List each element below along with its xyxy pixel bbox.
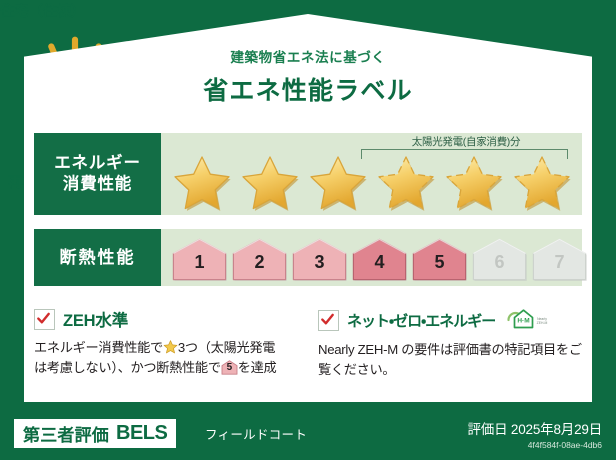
- star-4: [373, 153, 439, 211]
- solar-generation-note: 太陽光発電(自家消費)分: [336, 134, 596, 149]
- inline-badge-value: 5: [221, 363, 238, 373]
- evaluation-date: 評価日 2025年8月29日: [467, 418, 602, 438]
- criteria-net-zero-body: Nearly ZEH-M の要件は評価書の特記項目をご覧ください。: [318, 340, 586, 381]
- insulation-level-1: 1: [171, 237, 228, 282]
- zeh-body-part2: は考慮しない）、かつ断熱性能で: [34, 360, 221, 375]
- insulation-label: 断熱性能: [60, 247, 136, 269]
- zeh-body-part1: エネルギー消費性能で: [34, 340, 163, 355]
- star-3: [305, 153, 371, 211]
- star-2: [237, 153, 303, 211]
- insulation-level-value: 2: [231, 253, 288, 271]
- insulation-performance-row: 断熱性能 1234567: [34, 229, 582, 286]
- zeh-m-logo: H·M Nearly ZEH-M: [505, 307, 549, 333]
- criteria-zeh-block: ZEH水準 エネルギー消費性能で 3つ（太陽光発電 は考慮しない）、かつ断熱性能…: [34, 307, 306, 379]
- insulation-level-value: 1: [171, 253, 228, 271]
- insulation-level-value: 4: [351, 253, 408, 271]
- criteria-net-zero-block: ネット・ゼロ・エネルギー H·M Nearly ZEH-M Nearly ZEH…: [318, 307, 586, 381]
- bels-label: BELS: [116, 422, 167, 445]
- third-party-label: 第三者評価: [23, 421, 109, 446]
- criteria-zeh-title: ZEH水準: [63, 307, 128, 331]
- zeh-body-part3: を達成: [238, 360, 277, 375]
- insulation-level-5: 5: [411, 237, 468, 282]
- insulation-level-list: 1234567: [171, 233, 588, 282]
- star-6: [509, 153, 575, 211]
- insulation-level-value: 7: [531, 253, 588, 271]
- insulation-level-value: 3: [291, 253, 348, 271]
- star-5: [441, 153, 507, 211]
- insulation-level-4: 4: [351, 237, 408, 282]
- insulation-level-6: 6: [471, 237, 528, 282]
- svg-text:ZEH-M: ZEH-M: [537, 321, 548, 325]
- energy-performance-row: エネルギー 消費性能 太陽光発電(自家消費)分: [34, 133, 582, 215]
- criteria-net-zero-title: ネット・ゼロ・エネルギー: [347, 310, 495, 331]
- criteria-zeh-body: エネルギー消費性能で 3つ（太陽光発電 は考慮しない）、かつ断熱性能で 5 を達…: [34, 338, 306, 379]
- evaluation-date-block: 評価日 2025年8月29日 4f4f584f-08ae-4db6: [467, 418, 602, 450]
- star-1: [169, 153, 235, 211]
- energy-label-line1: エネルギー: [54, 153, 141, 174]
- criteria-net-zero-header: ネット・ゼロ・エネルギー H·M Nearly ZEH-M: [318, 307, 586, 333]
- title-block: 建築物省エネ法に基づく 省エネ性能ラベル: [0, 46, 616, 107]
- insulation-level-2: 2: [231, 237, 288, 282]
- energy-stars-area: 太陽光発電(自家消費)分: [161, 133, 582, 215]
- net-zero-checkbox[interactable]: [318, 310, 339, 331]
- insulation-level-value: 6: [471, 253, 528, 271]
- energy-performance-label: 住宅（住棟） 再エネ設備あり 建築物省エネ法に基づく: [0, 0, 616, 460]
- bels-footer-badge: 第三者評価 BELS: [14, 419, 176, 448]
- insulation-performance-label-box: 断熱性能: [34, 229, 161, 286]
- insulation-levels-area: 1234567: [161, 229, 582, 286]
- insulation-level-3: 3: [291, 237, 348, 282]
- zeh-body-star-count: 3つ（太陽光発電: [178, 340, 275, 355]
- owner-name: フィールドコート: [205, 424, 307, 443]
- document-id: 4f4f584f-08ae-4db6: [467, 440, 602, 450]
- title-subtitle: 建築物省エネ法に基づく: [0, 46, 616, 66]
- inline-star-icon: [163, 340, 178, 354]
- energy-label-line2: 消費性能: [63, 174, 132, 195]
- energy-performance-label-box: エネルギー 消費性能: [34, 133, 161, 215]
- svg-text:H·M: H·M: [518, 318, 530, 325]
- inline-insulation-badge: 5: [221, 360, 238, 375]
- insulation-level-value: 5: [411, 253, 468, 271]
- star-rating: [169, 153, 574, 211]
- insulation-level-7: 7: [531, 237, 588, 282]
- zeh-checkbox[interactable]: [34, 309, 55, 330]
- title-main: 省エネ性能ラベル: [0, 71, 616, 107]
- criteria-zeh-header: ZEH水準: [34, 307, 306, 331]
